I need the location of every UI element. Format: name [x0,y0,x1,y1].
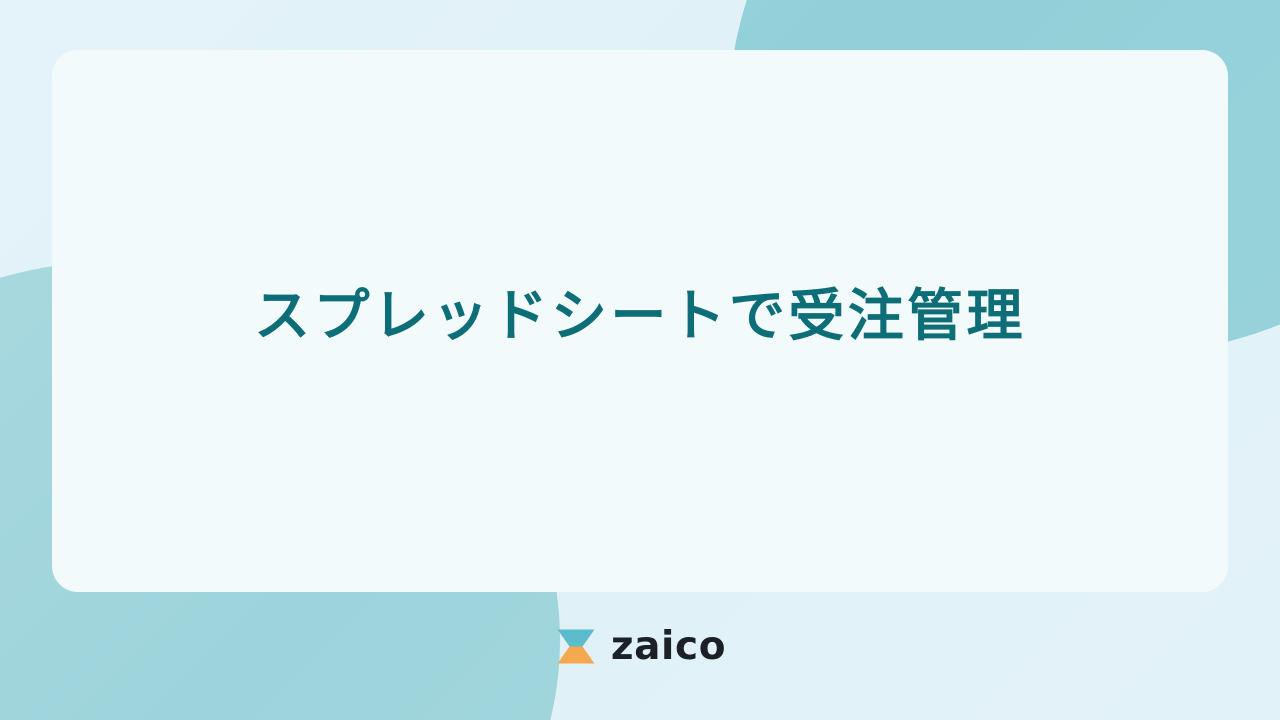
brand-lockup: zaico [0,620,1280,672]
page-title: スプレッドシートで受注管理 [254,279,1026,355]
content-card: スプレッドシートで受注管理 [52,50,1228,592]
brand-wordmark: zaico [611,627,726,666]
slide-canvas: スプレッドシートで受注管理 zaico [0,0,1280,720]
zaico-hourglass-logo-icon [554,624,598,668]
